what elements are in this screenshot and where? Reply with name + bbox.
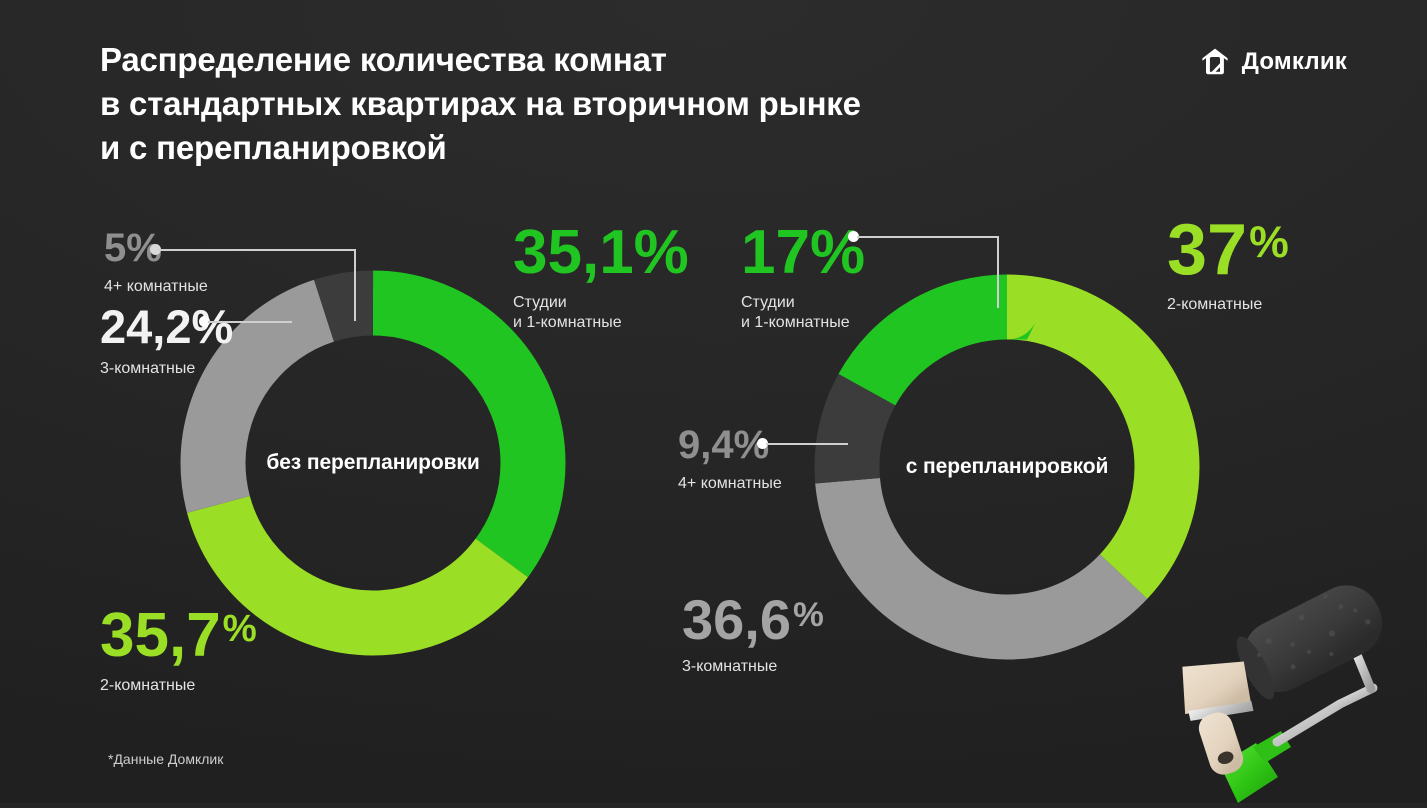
label-left-3room-value: 24,2% (100, 303, 233, 350)
label-right-studio-value: 17% (741, 222, 865, 284)
label-right-studio-sub: Студии и 1-комнатные (741, 293, 865, 334)
brand-name: Домклик (1242, 48, 1347, 76)
label-left-2room: 35,7% 2-комнатные (100, 605, 257, 696)
paint-roller-and-brush-illustration (1107, 563, 1427, 803)
donut-ring-left (178, 268, 568, 658)
label-left-3room: 24,2% 3-комнатные (100, 303, 233, 379)
label-left-2room-value: 35,7% (100, 605, 257, 667)
page-title: Распределение количества комнат в станда… (100, 38, 861, 170)
label-right-2room-sub: 2-комнатные (1167, 295, 1289, 315)
label-right-studio: 17% Студии и 1-комнатные (741, 222, 865, 334)
label-left-4room-value: 5% (104, 228, 208, 268)
label-left-4room-sub: 4+ комнатные (104, 277, 208, 297)
label-right-4room-value: 9,4% (678, 425, 782, 465)
donut-chart-without-redevelopment: без перепланировки (178, 268, 568, 658)
label-left-3room-sub: 3-комнатные (100, 359, 233, 379)
label-right-2room: 37% 2-комнатные (1167, 214, 1289, 315)
label-left-studio: 35,1% Студии и 1-комнатные (513, 222, 689, 334)
label-right-2room-value: 37% (1167, 214, 1289, 286)
label-right-4room: 9,4% 4+ комнатные (678, 425, 782, 494)
label-left-studio-sub: Студии и 1-комнатные (513, 293, 689, 334)
label-right-4room-sub: 4+ комнатные (678, 474, 782, 494)
infographic-canvas: Распределение количества комнат в станда… (0, 0, 1427, 803)
label-right-3room: 36,6% 3-комнатные (682, 592, 824, 677)
house-cursor-logo-icon (1199, 46, 1231, 78)
label-left-2room-sub: 2-комнатные (100, 676, 257, 696)
label-right-3room-value: 36,6% (682, 592, 824, 648)
label-right-3room-sub: 3-комнатные (682, 657, 824, 677)
footnote: *Данные Домклик (108, 751, 223, 767)
label-left-4room: 5% 4+ комнатные (104, 228, 208, 297)
brand-logo: Домклик (1199, 46, 1347, 78)
label-left-studio-value: 35,1% (513, 222, 689, 284)
